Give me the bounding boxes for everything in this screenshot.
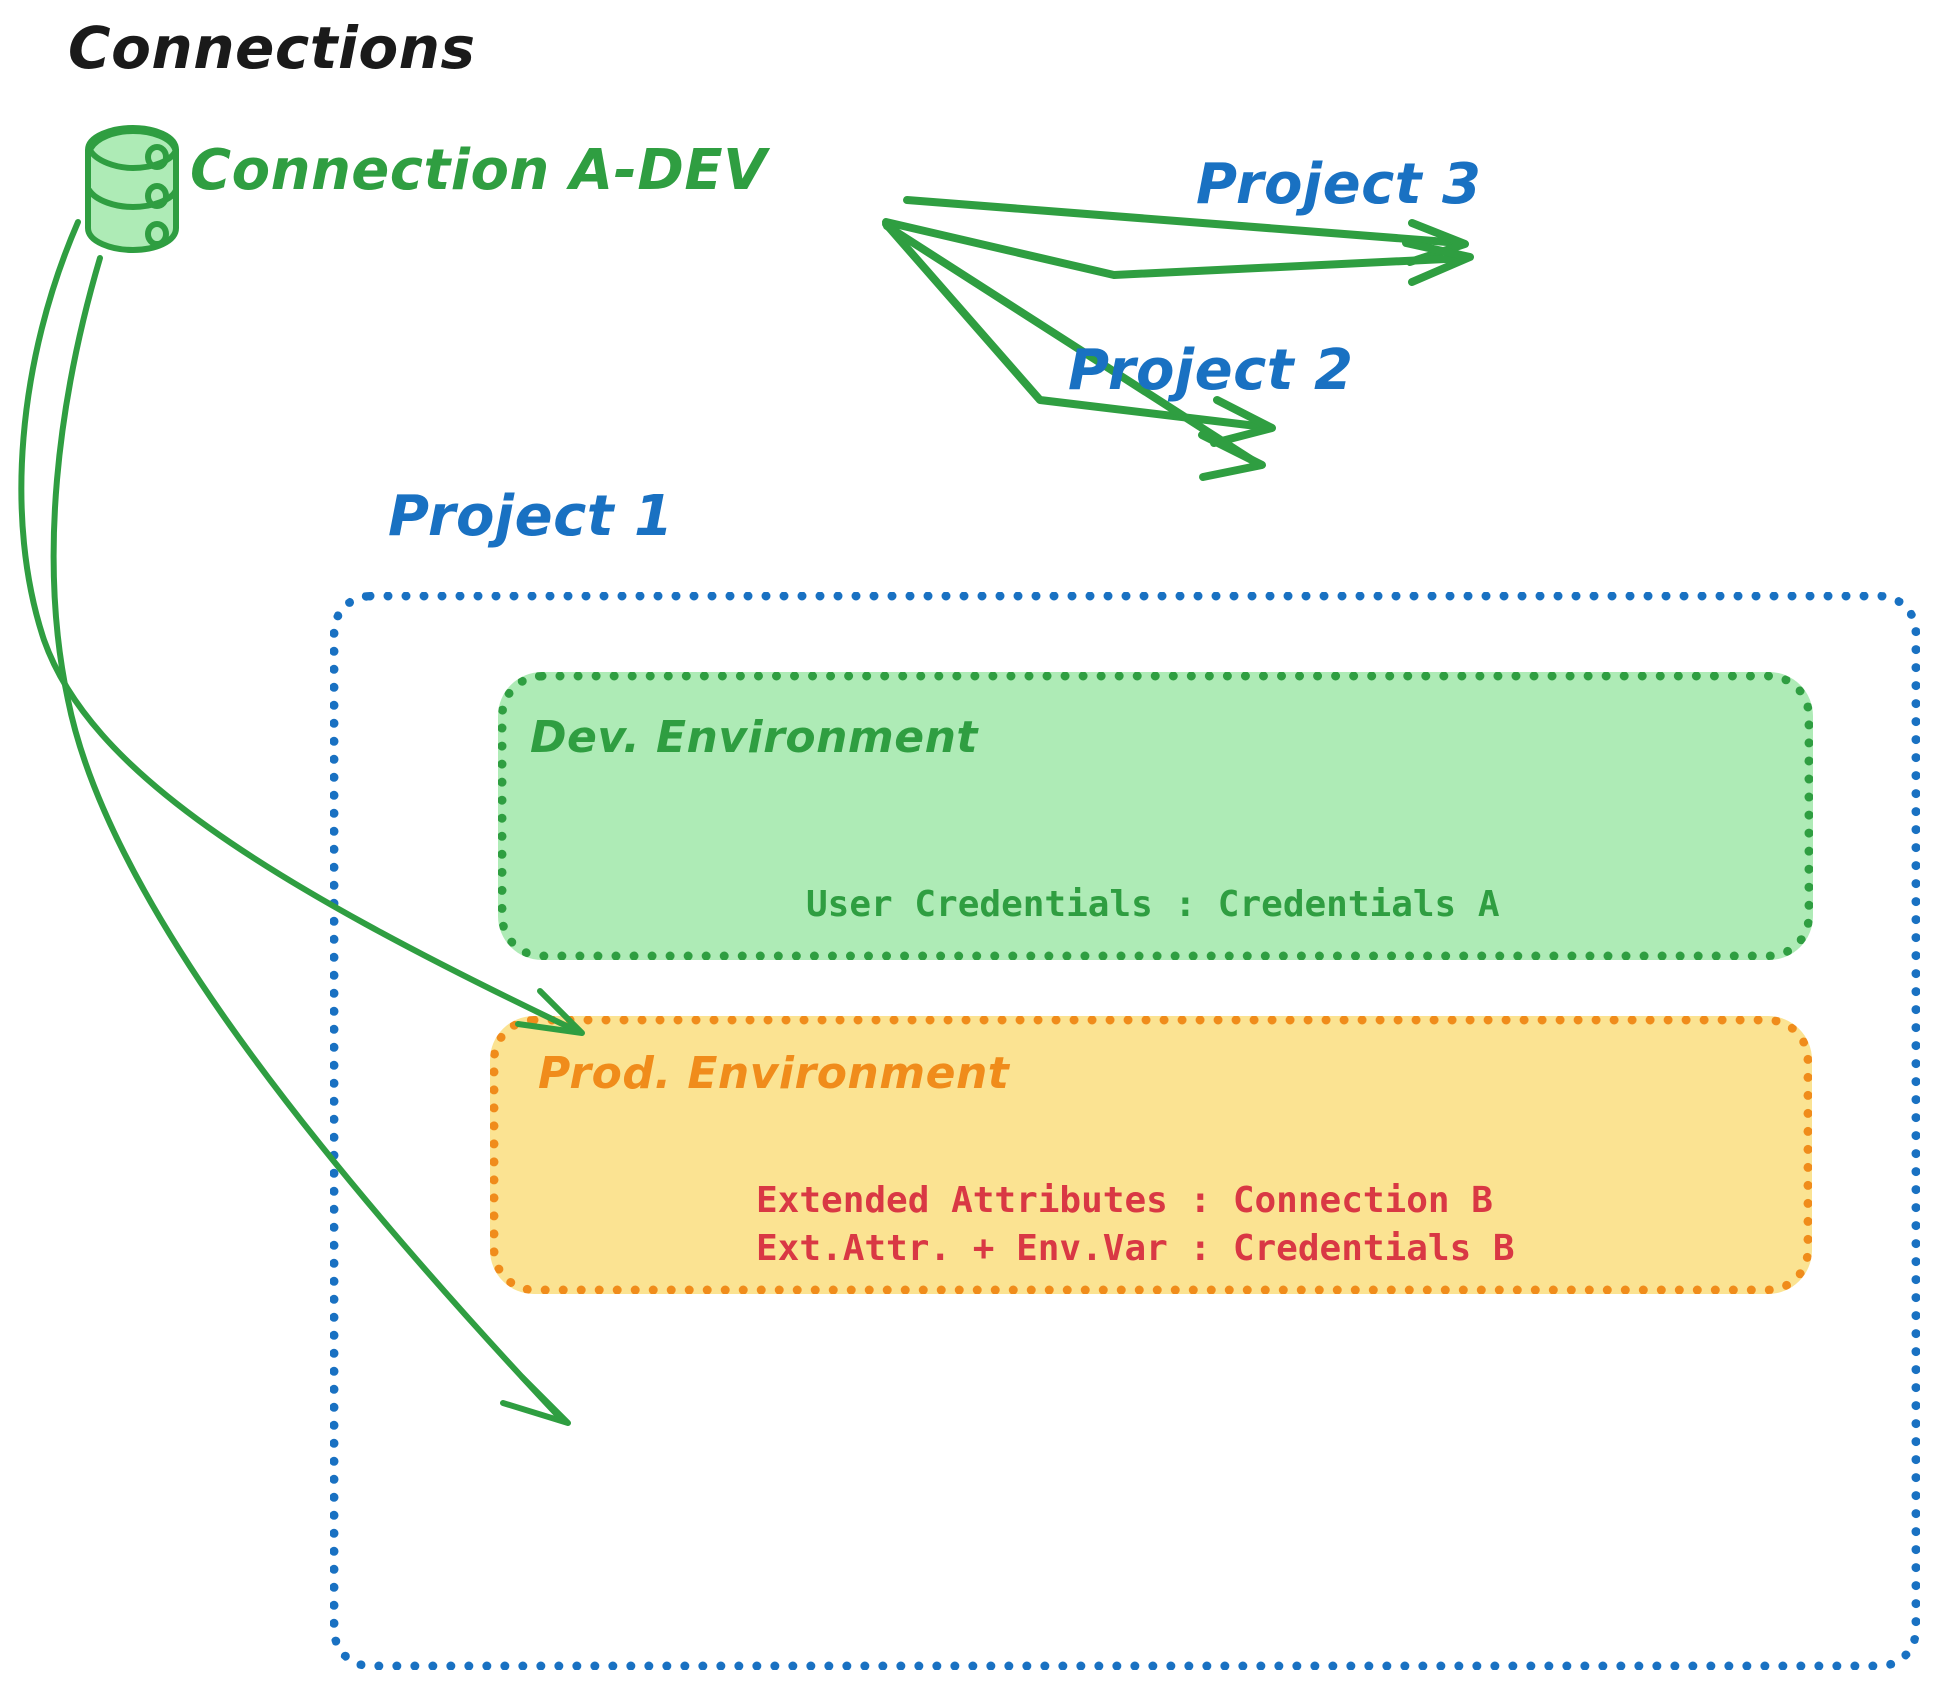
- page-title: Connections: [68, 14, 475, 82]
- connection-a-dev-label: Connection A-DEV: [190, 138, 767, 203]
- prod-environment-label: Prod. Environment: [538, 1048, 1009, 1099]
- dev-environment-entry-0: User Credentials : Credentials A: [806, 884, 1500, 925]
- edge-conn-to-project2-a: [886, 224, 1272, 443]
- dev-environment-label: Dev. Environment: [530, 712, 978, 763]
- prod-environment-entry-0: Extended Attributes : Connection B: [756, 1180, 1493, 1221]
- project-2-label: Project 2: [1068, 338, 1354, 403]
- diagram-canvas: .edge { fill: none; stroke: #2f9e41; str…: [0, 0, 1938, 1691]
- project-1-label: Project 1: [388, 484, 674, 549]
- database-cylinder-icon: [88, 128, 176, 250]
- project-3-label: Project 3: [1196, 152, 1482, 217]
- edge-conn-to-project3-b: [886, 222, 1470, 282]
- prod-environment-entry-1: Ext.Attr. + Env.Var : Credentials B: [756, 1228, 1515, 1269]
